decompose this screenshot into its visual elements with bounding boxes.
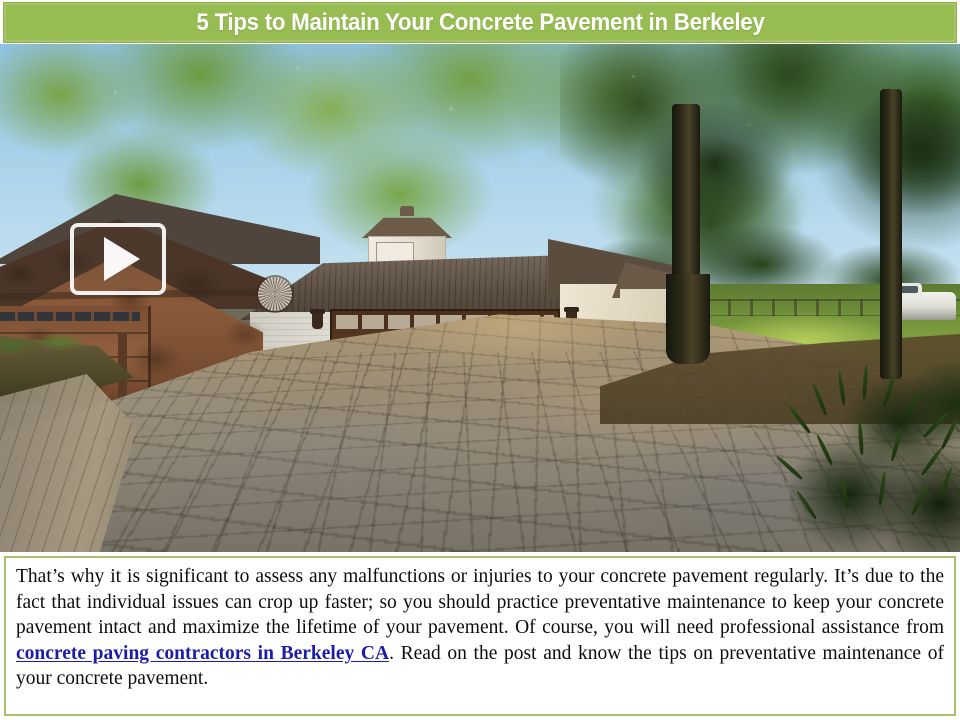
- page-title: 5 Tips to Maintain Your Concrete Pavemen…: [196, 9, 764, 37]
- body-text-box: That’s why it is significant to assess a…: [4, 556, 956, 716]
- tree-trunk-2: [880, 89, 902, 379]
- video-thumbnail[interactable]: [0, 44, 960, 552]
- slide: 5 Tips to Maintain Your Concrete Pavemen…: [0, 0, 960, 720]
- tree-trunk-1-base: [666, 274, 710, 364]
- shrub-leaf-blades: [790, 359, 960, 552]
- photo-scene: [0, 44, 960, 552]
- play-button[interactable]: [70, 223, 166, 295]
- wall-sconce-left: [312, 312, 323, 329]
- slide-title-bar: 5 Tips to Maintain Your Concrete Pavemen…: [4, 3, 956, 42]
- play-icon: [104, 237, 140, 281]
- left-bed-plants: [0, 332, 110, 366]
- tree-canopy-left-foreground: [590, 84, 840, 284]
- body-paragraph: That’s why it is significant to assess a…: [16, 564, 944, 692]
- body-text-before-link: That’s why it is significant to assess a…: [16, 566, 944, 638]
- concrete-paving-contractors-link[interactable]: concrete paving contractors in Berkeley …: [16, 643, 389, 664]
